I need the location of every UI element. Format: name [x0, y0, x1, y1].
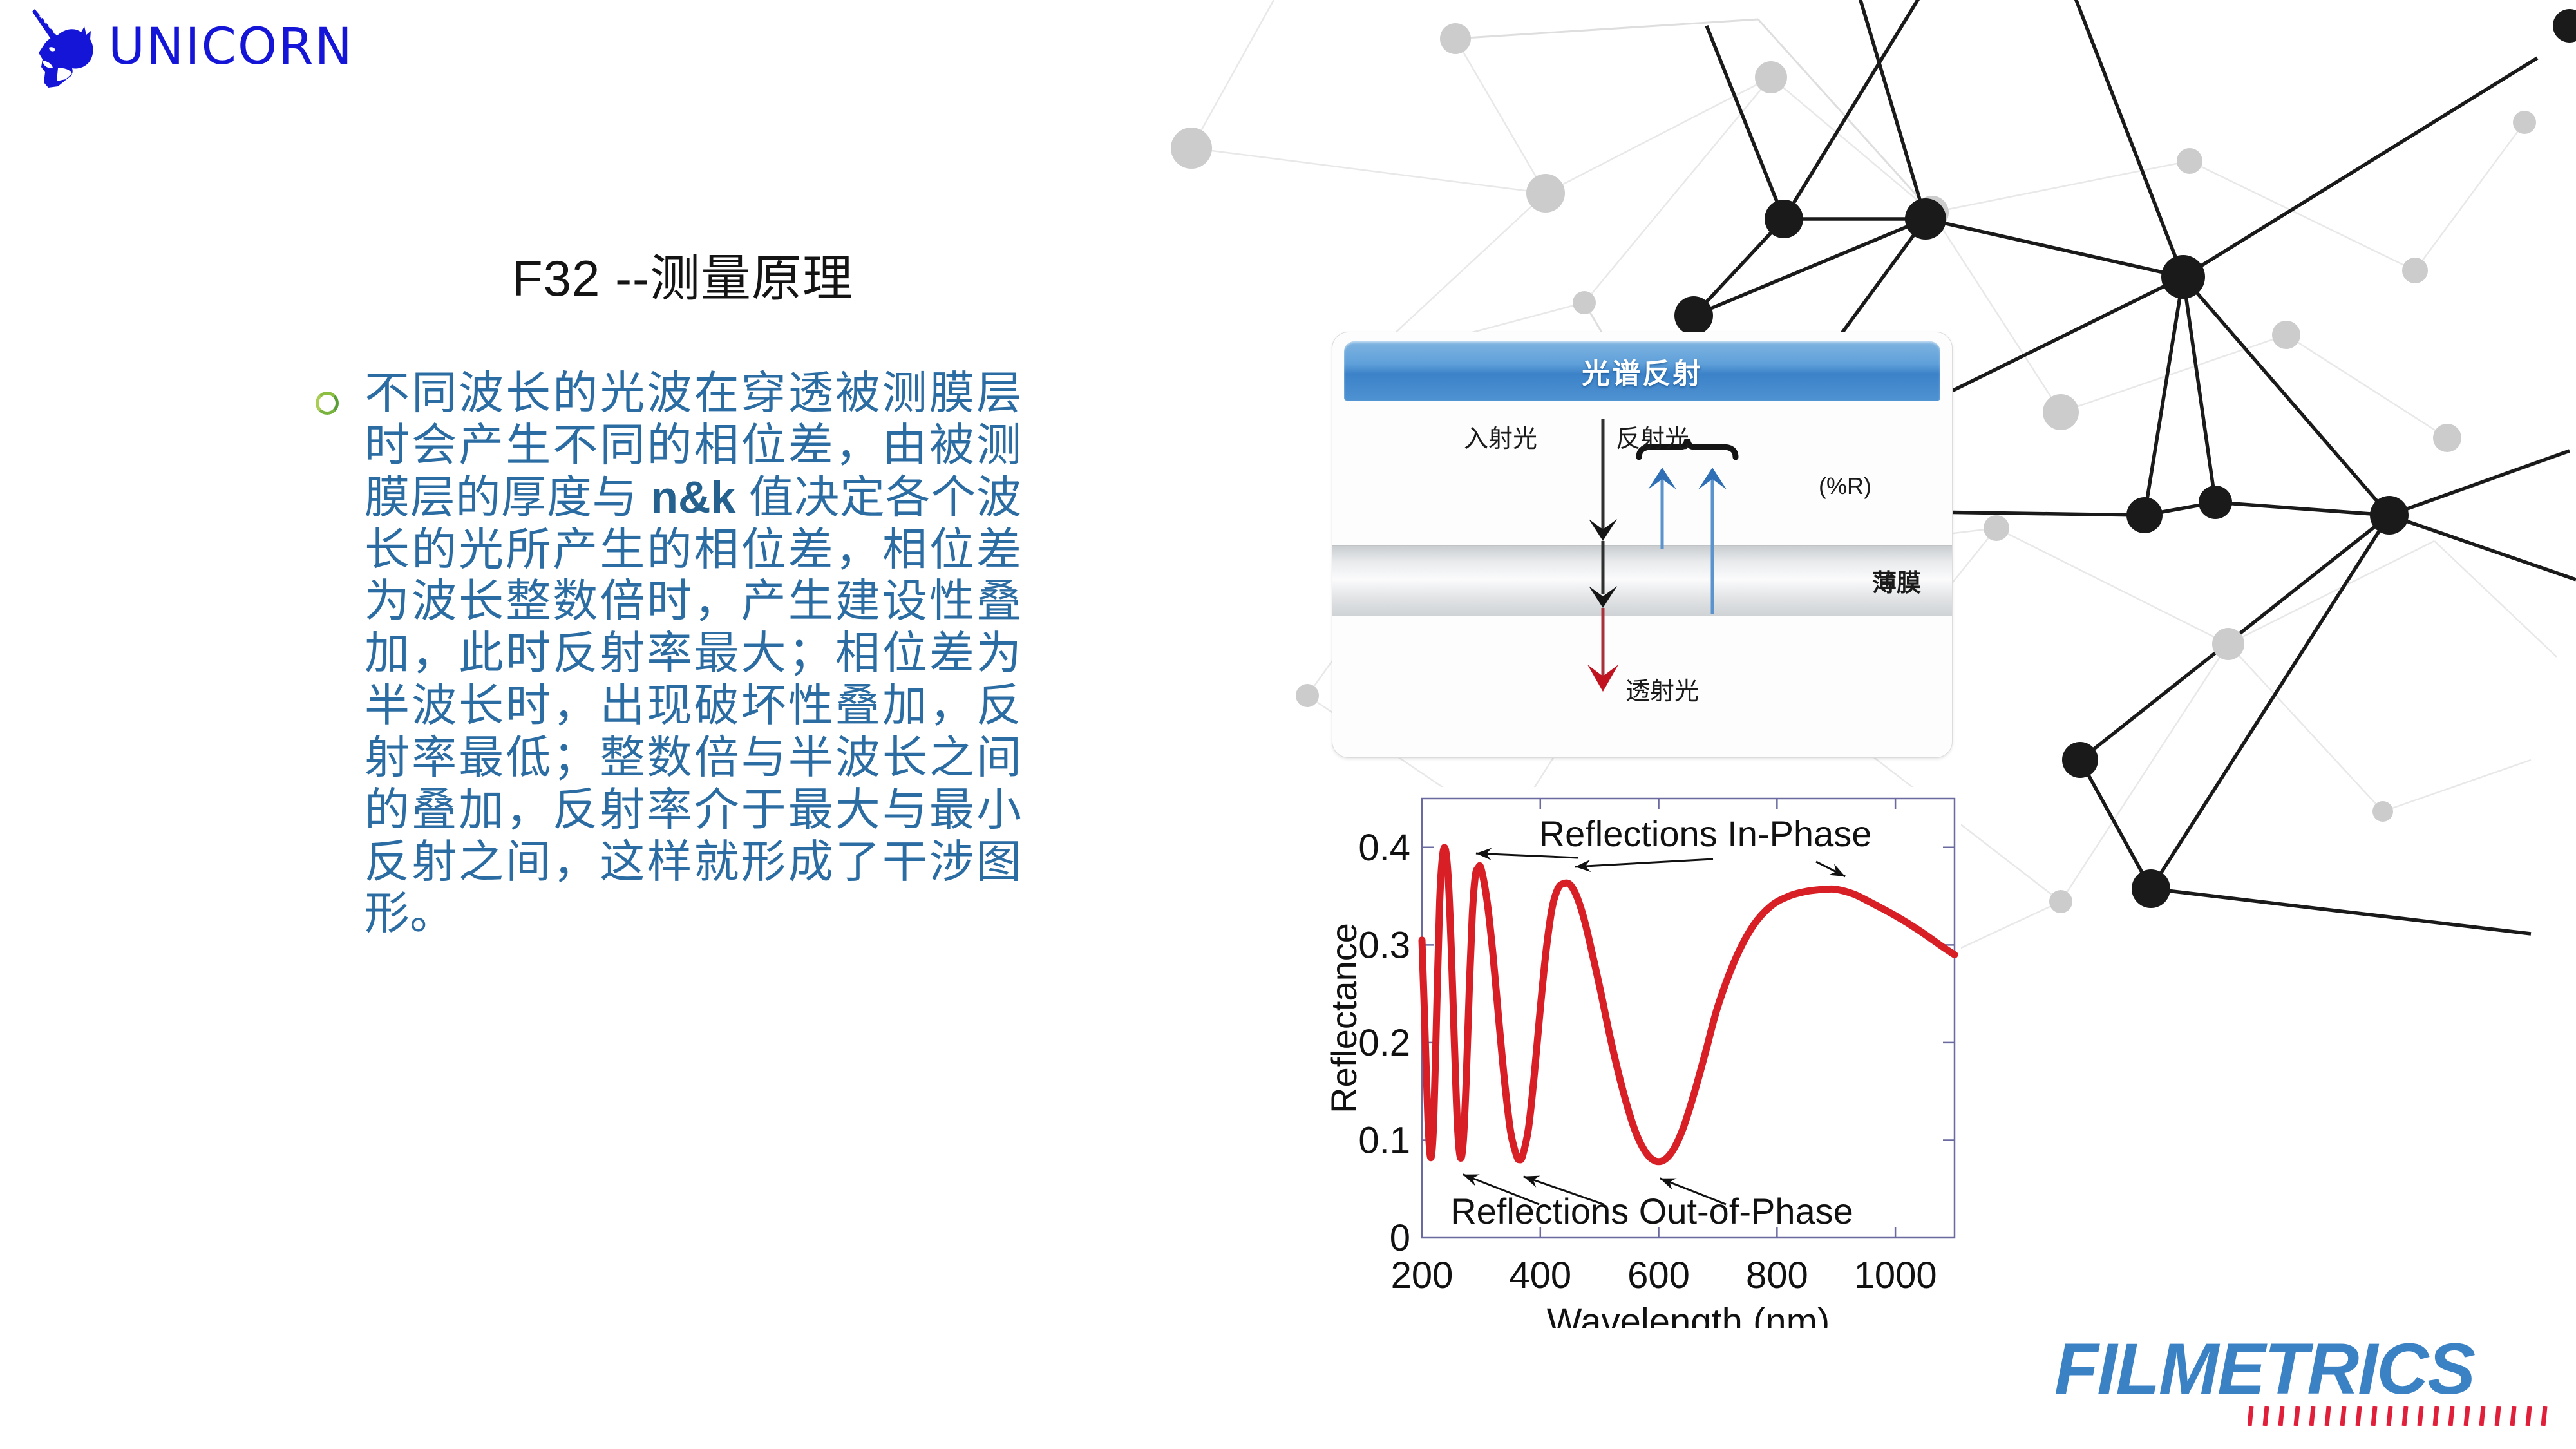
label-transmitted-light: 透射光: [1625, 671, 1699, 706]
svg-text:Reflectance: Reflectance: [1327, 923, 1364, 1113]
svg-text:400: 400: [1509, 1255, 1571, 1296]
diagram-header-bar: 光谱反射: [1344, 341, 1940, 401]
svg-text:Wavelength (nm): Wavelength (nm): [1547, 1301, 1830, 1328]
label-reflected-light: 反射光: [1616, 419, 1689, 454]
svg-text:0: 0: [1390, 1217, 1410, 1259]
arrow-up-icon-2: [1698, 468, 1727, 614]
spectral-reflection-diagram: 光谱反射: [1332, 332, 1953, 758]
body-paragraph: 不同波长的光波在穿透被测膜层时会产生不同的相位差，由被测膜层的厚度与 n&k 值…: [365, 367, 1021, 940]
svg-text:800: 800: [1746, 1255, 1808, 1296]
arrow-down-red-icon: [1587, 608, 1618, 692]
body-part-2: 值决定各个波长的光所产生的相位差，相位差为波长整数倍时，产生建设性叠加，此时反射…: [365, 472, 1021, 939]
green-ring-bullet-icon: [316, 392, 339, 415]
bullet-marker-wrap: [316, 392, 339, 940]
label-incident-light: 入射光: [1464, 419, 1537, 454]
diagram-header-title: 光谱反射: [1344, 341, 1940, 401]
svg-text:Reflections Out-of-Phase: Reflections Out-of-Phase: [1450, 1191, 1853, 1231]
svg-text:Reflections In-Phase: Reflections In-Phase: [1539, 813, 1872, 854]
unicorn-logo: UNICORN: [19, 5, 354, 89]
reflectance-chart: 200400600800100000.10.20.30.4Reflectance…: [1327, 787, 1961, 1328]
svg-text:0.2: 0.2: [1358, 1022, 1410, 1064]
reflectance-chart-svg: 200400600800100000.10.20.30.4Reflectance…: [1327, 787, 1961, 1328]
svg-text:600: 600: [1627, 1255, 1690, 1296]
filmetrics-wordmark: FILMETRICS: [2054, 1333, 2563, 1405]
filmetrics-tick-marks-icon: [2248, 1405, 2550, 1427]
filmetrics-logo: FILMETRICS: [2054, 1333, 2563, 1436]
svg-text:0.3: 0.3: [1358, 924, 1410, 966]
body-emphasis-nk: n&k: [650, 472, 735, 522]
svg-text:1000: 1000: [1854, 1255, 1937, 1296]
svg-text:0.1: 0.1: [1358, 1119, 1410, 1161]
unicorn-head-icon: [19, 5, 97, 89]
logo-wordmark: UNICORN: [108, 22, 354, 72]
diagram-canvas: 入射光 反射光 (%R) 薄膜 透射光: [1332, 401, 1952, 757]
label-percent-r: (%R): [1819, 473, 1871, 500]
arrow-up-icon-1: [1648, 468, 1676, 549]
page-title: F32 --测量原理: [512, 238, 853, 310]
svg-text:0.4: 0.4: [1358, 827, 1410, 869]
svg-text:200: 200: [1391, 1255, 1454, 1296]
body-bullet-block: 不同波长的光波在穿透被测膜层时会产生不同的相位差，由被测膜层的厚度与 n&k 值…: [316, 367, 1043, 940]
slide-root: UNICORN F32 --测量原理 不同波长的光波在穿透被测膜层时会产生不同的…: [0, 0, 2576, 1449]
arrow-down-icon: [1589, 419, 1617, 608]
label-thin-film: 薄膜: [1872, 563, 1921, 598]
